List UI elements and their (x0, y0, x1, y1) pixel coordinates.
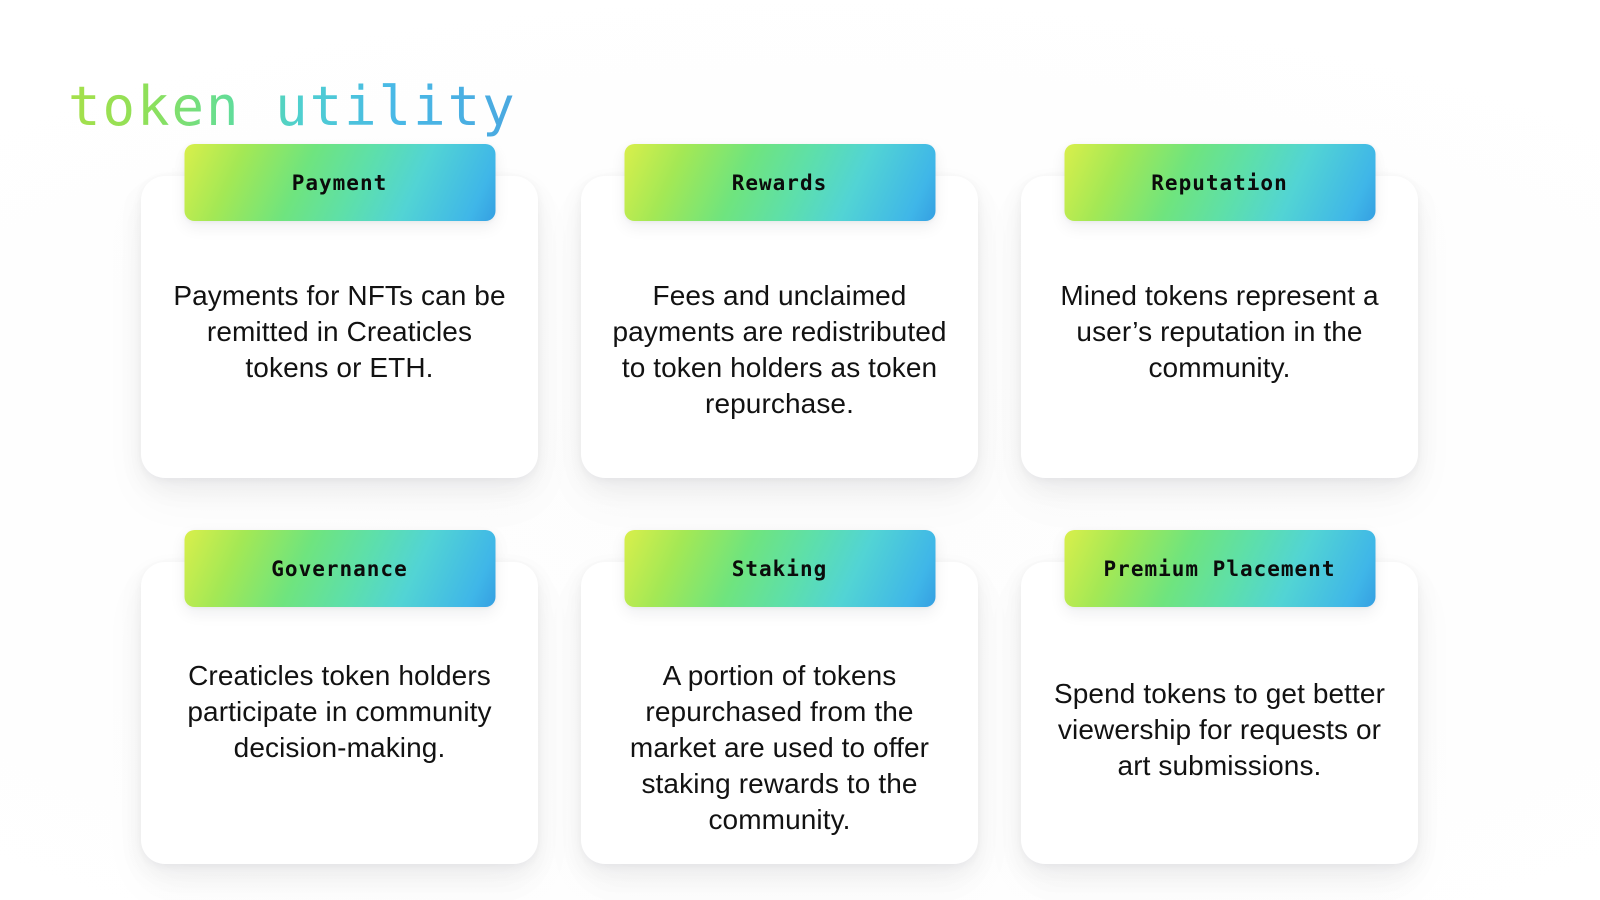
token-utility-card-grid: Payment Payments for NFTs can be remitte… (141, 144, 1461, 864)
card-reputation[interactable]: Reputation Mined tokens represent a user… (1021, 144, 1418, 478)
card-body: Spend tokens to get better viewership fo… (1021, 626, 1418, 864)
card-header-label: Rewards (732, 171, 828, 195)
card-header-badge[interactable]: Governance (184, 530, 495, 607)
token-utility-page: token utility Payment Payments for NFTs … (0, 0, 1600, 900)
card-premium-placement[interactable]: Premium Placement Spend tokens to get be… (1021, 530, 1418, 864)
card-header-badge[interactable]: Payment (184, 144, 495, 221)
card-body: Fees and unclaimed payments are redistri… (581, 240, 978, 478)
card-governance[interactable]: Governance Creaticles token holders part… (141, 530, 538, 864)
card-body: A portion of tokens repurchased from the… (581, 626, 978, 864)
card-description: Creaticles token holders participate in … (171, 626, 508, 766)
card-description: Payments for NFTs can be remitted in Cre… (171, 240, 508, 386)
card-description: Spend tokens to get better viewership fo… (1051, 626, 1388, 784)
card-description: Fees and unclaimed payments are redistri… (611, 240, 948, 422)
card-payment[interactable]: Payment Payments for NFTs can be remitte… (141, 144, 538, 478)
card-header-label: Reputation (1151, 171, 1287, 195)
card-header-badge[interactable]: Staking (624, 530, 935, 607)
card-description: Mined tokens represent a user’s reputati… (1051, 240, 1388, 386)
card-header-label: Premium Placement (1104, 557, 1336, 581)
card-header-badge[interactable]: Rewards (624, 144, 935, 221)
card-header-label: Staking (732, 557, 828, 581)
card-description: A portion of tokens repurchased from the… (611, 626, 948, 838)
card-body: Mined tokens represent a user’s reputati… (1021, 240, 1418, 478)
card-body: Payments for NFTs can be remitted in Cre… (141, 240, 538, 478)
page-title: token utility (68, 76, 517, 138)
card-header-badge[interactable]: Premium Placement (1064, 530, 1375, 607)
card-header-label: Governance (271, 557, 407, 581)
card-header-badge[interactable]: Reputation (1064, 144, 1375, 221)
card-header-label: Payment (292, 171, 388, 195)
card-body: Creaticles token holders participate in … (141, 626, 538, 864)
card-rewards[interactable]: Rewards Fees and unclaimed payments are … (581, 144, 978, 478)
card-staking[interactable]: Staking A portion of tokens repurchased … (581, 530, 978, 864)
